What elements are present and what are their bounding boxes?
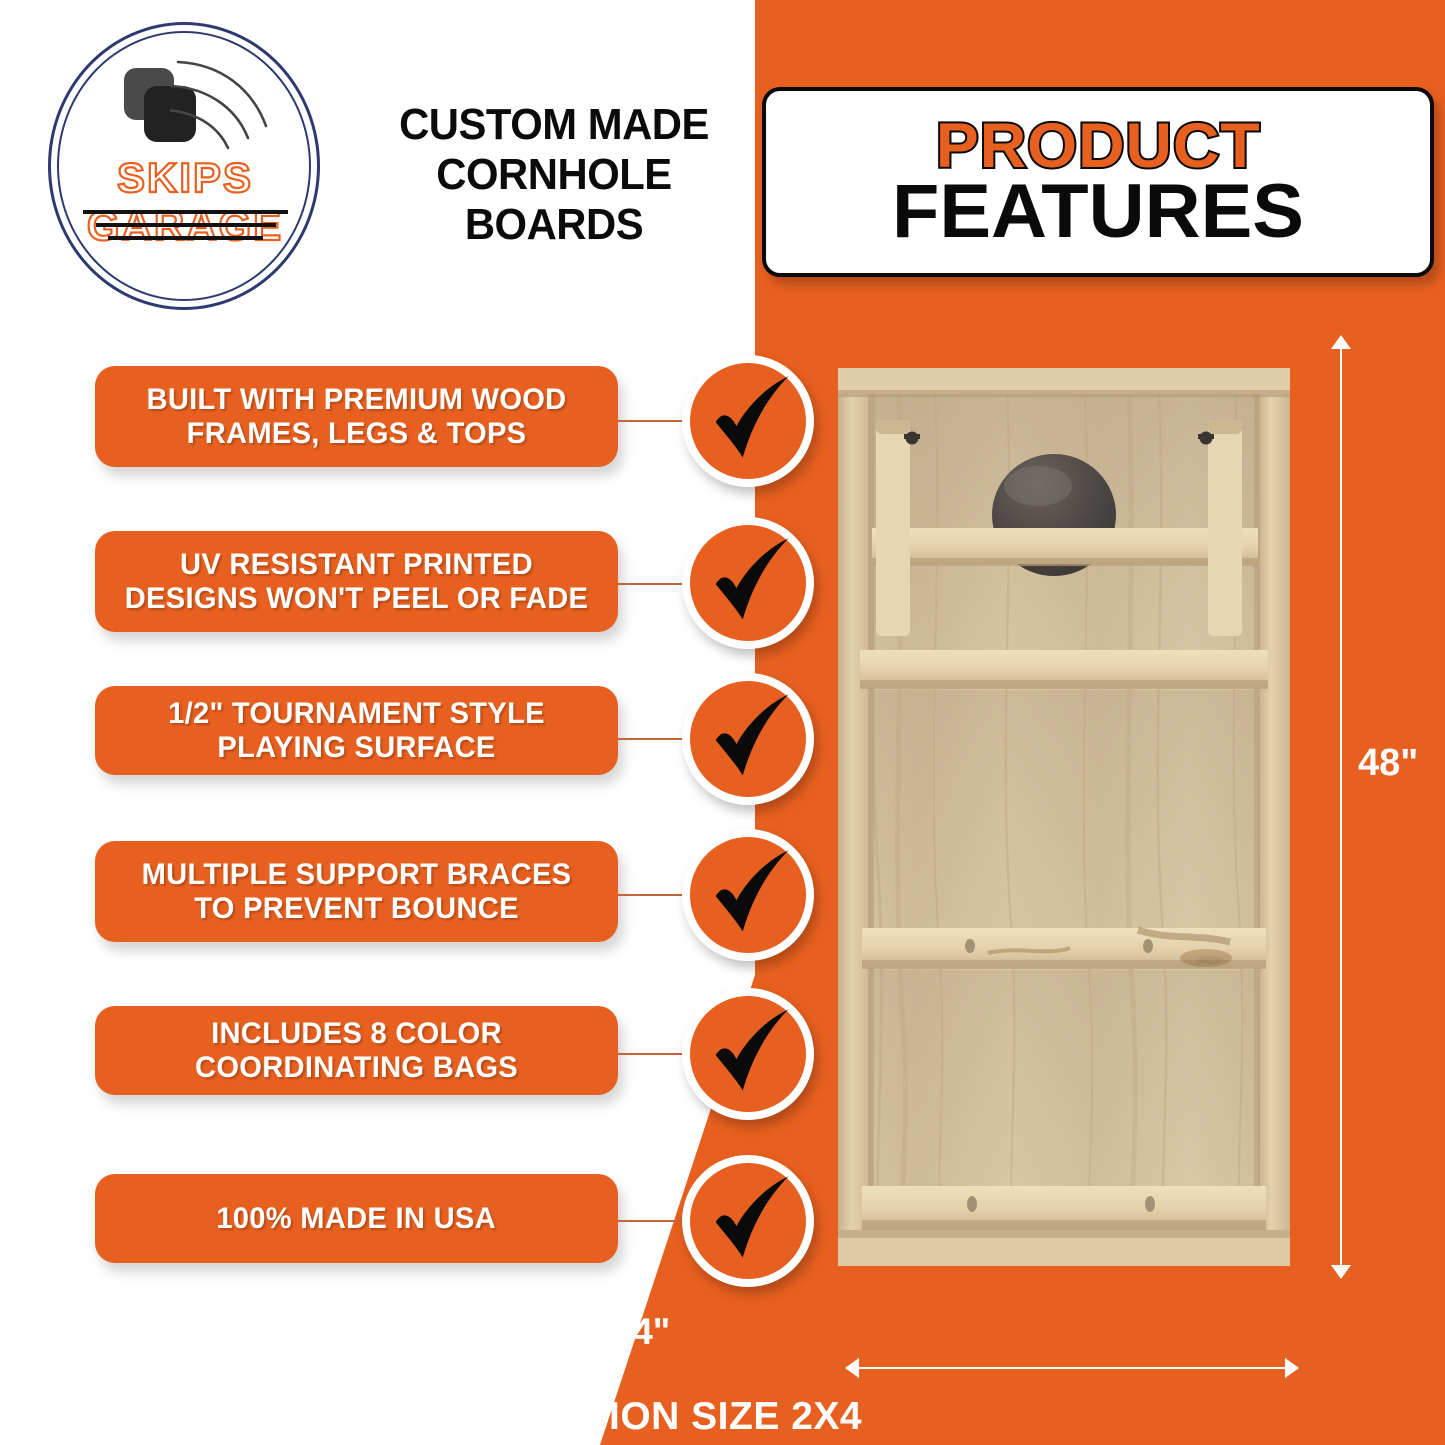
- feature-label: BUILT WITH PREMIUM WOOD FRAMES, LEGS & T…: [122, 383, 591, 451]
- feature-connector-line: [618, 894, 690, 896]
- brand-logo: SKIPS GARAGE: [20, 14, 350, 314]
- feature-connector-line: [618, 738, 690, 740]
- motion-arcs-icon: [170, 54, 290, 154]
- width-dimension-label: 24": [0, 1311, 1445, 1353]
- logo-rule-1: [83, 210, 288, 214]
- cornhole-board-photo: [838, 368, 1290, 1266]
- feature-pill[interactable]: UV RESISTANT PRINTED DESIGNS WON'T PEEL …: [95, 531, 618, 632]
- arrow-right-icon: [1285, 1358, 1299, 1378]
- product-features-banner: PRODUCT FEATURES: [762, 87, 1434, 277]
- feature-connector-line: [618, 1220, 690, 1222]
- feature-label: INCLUDES 8 COLOR COORDINATING BAGS: [122, 1017, 591, 1085]
- arrow-up-icon: [1331, 335, 1351, 349]
- width-dimension-arrow: [858, 1367, 1286, 1369]
- check-icon: [682, 517, 814, 649]
- arrow-down-icon: [1331, 1265, 1351, 1279]
- banner-line-features: FEATURES: [892, 175, 1304, 249]
- check-icon: [682, 829, 814, 961]
- feature-label: 1/2" TOURNAMENT STYLE PLAYING SURFACE: [122, 697, 591, 765]
- check-icon: [682, 673, 814, 805]
- feature-label: 100% MADE IN USA: [217, 1202, 497, 1236]
- logo-rule-3: [108, 236, 263, 240]
- feature-connector-line: [618, 420, 690, 422]
- feature-pill[interactable]: MULTIPLE SUPPORT BRACES TO PREVENT BOUNC…: [95, 841, 618, 942]
- feature-pill[interactable]: 100% MADE IN USA: [95, 1174, 618, 1263]
- feature-pill[interactable]: BUILT WITH PREMIUM WOOD FRAMES, LEGS & T…: [95, 366, 618, 467]
- feature-label: UV RESISTANT PRINTED DESIGNS WON'T PEEL …: [122, 548, 591, 616]
- check-icon: [682, 1155, 814, 1287]
- feature-label: MULTIPLE SUPPORT BRACES TO PREVENT BOUNC…: [122, 858, 591, 926]
- check-icon: [682, 988, 814, 1120]
- banner-line-product: PRODUCT: [936, 115, 1261, 177]
- height-dimension-arrow: [1340, 348, 1342, 1266]
- logo-rule-2: [96, 223, 276, 227]
- regulation-size-text: REGULATION SIZE 2X4: [0, 1395, 1445, 1439]
- feature-pill[interactable]: INCLUDES 8 COLOR COORDINATING BAGS: [95, 1006, 618, 1095]
- page-title: CUSTOM MADE CORNHOLE BOARDS: [368, 100, 740, 250]
- feature-pill[interactable]: 1/2" TOURNAMENT STYLE PLAYING SURFACE: [95, 686, 618, 775]
- infographic-canvas: SKIPS GARAGE CUSTOM MADE CORNHOLE BOARDS…: [0, 0, 1445, 1445]
- arrow-left-icon: [845, 1358, 859, 1378]
- feature-connector-line: [618, 583, 690, 585]
- feature-connector-line: [618, 1053, 690, 1055]
- height-dimension-label: 48": [1358, 742, 1418, 785]
- cornhole-board-illustration: [838, 368, 1290, 1266]
- check-icon: [682, 355, 814, 487]
